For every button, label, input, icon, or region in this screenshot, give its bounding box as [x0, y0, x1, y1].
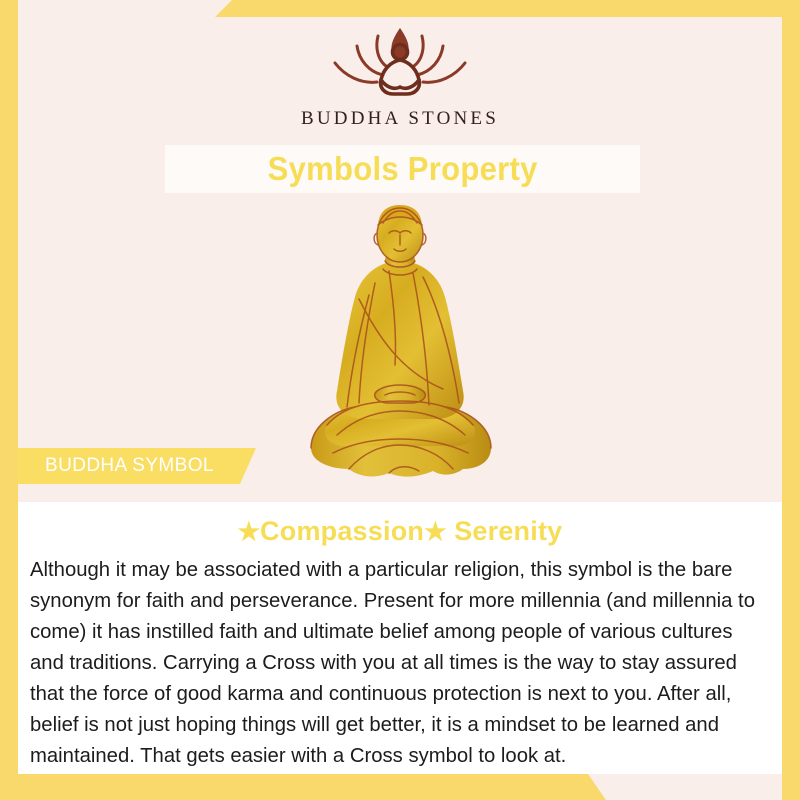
golden-seated-buddha-illustration — [293, 203, 508, 488]
frame-top-band — [0, 0, 800, 17]
lotus-meditation-figure-icon — [315, 22, 485, 104]
headline-word-serenity: Serenity — [454, 516, 562, 546]
brand-logo: BUDDHA STONES — [0, 22, 800, 137]
star-icon-left: ★ — [238, 518, 260, 546]
section-ribbon: BUDDHA SYMBOL — [18, 448, 256, 484]
section-ribbon-label: BUDDHA SYMBOL — [45, 455, 214, 477]
brand-wordmark: BUDDHA STONES — [301, 108, 499, 130]
content-panel: ★Compassion★ Serenity Although it may be… — [18, 502, 782, 774]
frame-bottom-band — [0, 774, 800, 800]
content-headline: ★Compassion★ Serenity — [18, 516, 782, 547]
page-title: Symbols Property — [268, 150, 538, 188]
content-paragraph: Although it may be associated with a par… — [30, 554, 759, 771]
hero-image — [0, 200, 800, 490]
headline-word-compassion: Compassion — [260, 516, 424, 546]
title-band: Symbols Property — [165, 145, 640, 193]
star-icon-right: ★ — [424, 518, 446, 546]
poster-page: BUDDHA STONES Symbols Property — [0, 0, 800, 800]
